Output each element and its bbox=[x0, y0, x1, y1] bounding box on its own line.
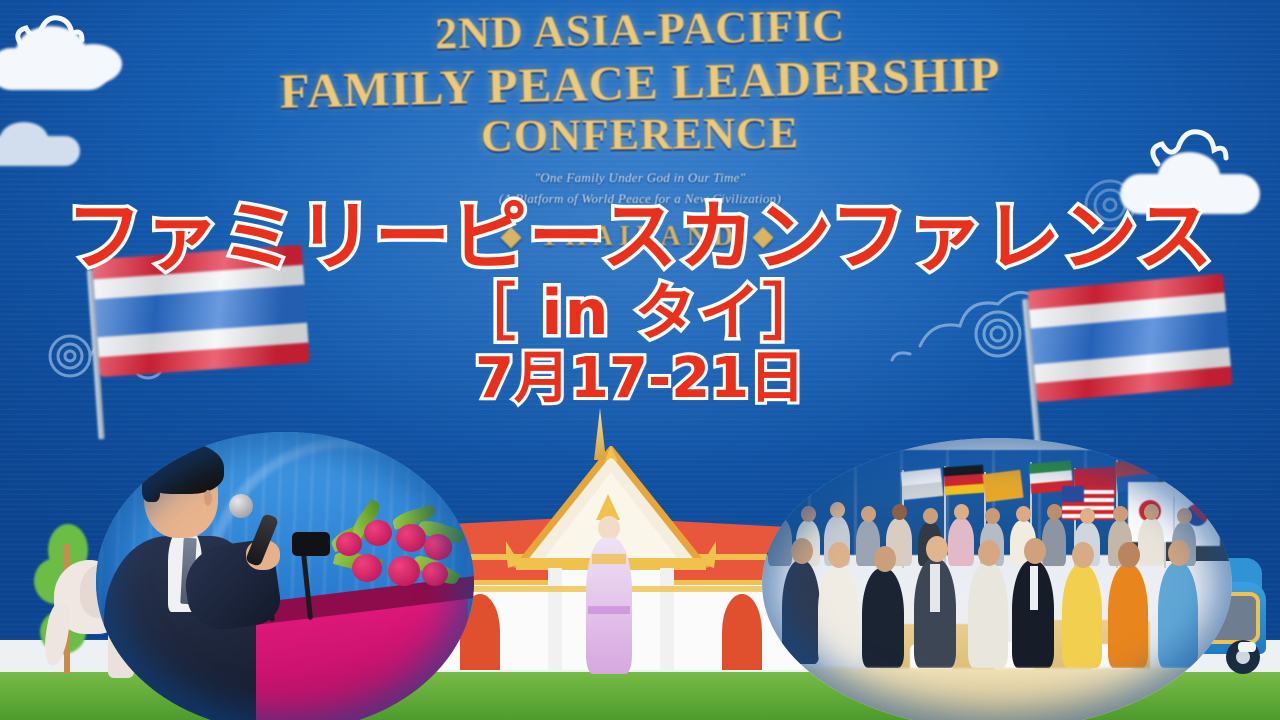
arc-motif-top-left bbox=[250, 0, 450, 50]
flag-usa bbox=[1062, 486, 1114, 520]
banner-line-1: 2ND ASIA-PACIFIC bbox=[0, 0, 1280, 65]
thai-dancer-illustration bbox=[578, 494, 638, 674]
flower-bouquet bbox=[326, 510, 466, 602]
crowd-back-row bbox=[762, 496, 1232, 566]
photo-speaker bbox=[96, 432, 474, 720]
banner-line-3: CONFERENCE bbox=[0, 100, 1280, 163]
title-line-2: ［ in タイ］ bbox=[0, 280, 1280, 347]
promo-slide: 2ND ASIA-PACIFIC FAMILY PEACE LEADERSHIP… bbox=[0, 0, 1280, 720]
cloud-top-left bbox=[0, 12, 150, 90]
crowd-front-row bbox=[762, 534, 1232, 684]
flag-cluster bbox=[872, 452, 1212, 572]
overlay-title: ファミリーピースカンファレンス ［ in タイ］ 7月17-21日 bbox=[0, 196, 1280, 410]
title-line-1: ファミリーピースカンファレンス bbox=[0, 196, 1280, 278]
cloud-mid-left bbox=[0, 118, 90, 168]
arc-motif-top-right bbox=[950, 0, 1170, 80]
banner-subtitle-1: "One Family Under God in Our Time" bbox=[0, 157, 1280, 188]
flag-japan bbox=[1128, 482, 1174, 542]
title-line-3: 7月17-21日 bbox=[0, 349, 1280, 409]
banner-line-2: FAMILY PEACE LEADERSHIP bbox=[0, 36, 1280, 122]
speaker-person bbox=[96, 432, 474, 720]
tree-left bbox=[30, 524, 100, 674]
photo-audience bbox=[762, 438, 1232, 720]
